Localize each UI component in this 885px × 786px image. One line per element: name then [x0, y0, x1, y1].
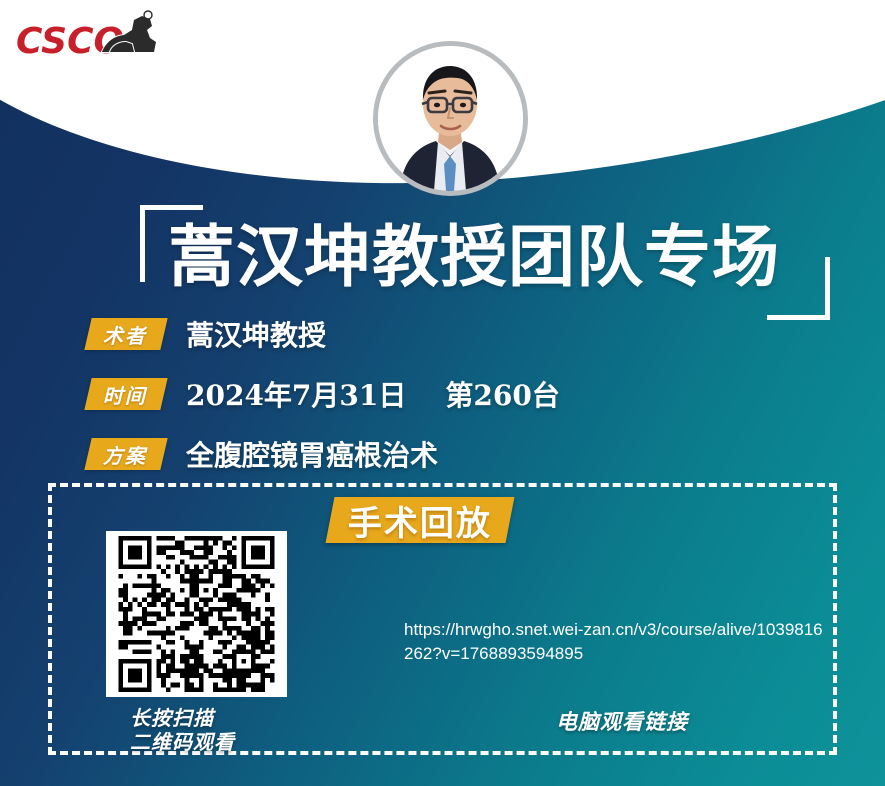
replay-badge: 手术回放 — [326, 497, 515, 543]
qr-caption-line2: 二维码观看 — [130, 730, 235, 754]
tag-surgeon: 术者 — [84, 318, 167, 350]
qr-code-icon[interactable] — [106, 531, 287, 697]
tag-time: 时间 — [84, 378, 167, 410]
title-block: 蒿汉坤教授团队专场 — [140, 205, 830, 320]
info-row-time: 时间 2024年7月31日 第260台 — [88, 371, 848, 417]
info-row-surgeon: 术者 蒿汉坤教授 — [88, 311, 848, 357]
info-row-procedure-value: 全腹腔镜胃癌根治术 — [186, 434, 438, 474]
tag-surgeon-label: 术者 — [103, 320, 147, 349]
info-rows: 术者 蒿汉坤教授 时间 2024年7月31日 第260台 方案 全腹腔镜胃癌根治… — [88, 311, 848, 491]
tag-procedure: 方案 — [84, 438, 167, 470]
speaker-portrait — [373, 41, 528, 196]
qr-caption-line1: 长按扫描 — [130, 706, 235, 730]
info-row-surgeon-value: 蒿汉坤教授 — [186, 314, 326, 354]
pc-link-caption: 电脑观看链接 — [556, 709, 688, 735]
info-row-time-value: 2024年7月31日 第260台 — [186, 374, 560, 414]
qr-caption: 长按扫描 二维码观看 — [130, 706, 235, 754]
poster-root: CSCO — [0, 0, 885, 786]
page-title: 蒿汉坤教授团队专场 — [168, 215, 780, 299]
watch-url[interactable]: https://hrwgho.snet.wei-zan.cn/v3/course… — [404, 618, 832, 666]
tag-time-label: 时间 — [103, 380, 147, 409]
tag-procedure-label: 方案 — [103, 440, 147, 469]
info-row-procedure: 方案 全腹腔镜胃癌根治术 — [88, 431, 848, 477]
replay-badge-label: 手术回放 — [348, 496, 492, 545]
csco-logo: CSCO — [14, 8, 164, 64]
